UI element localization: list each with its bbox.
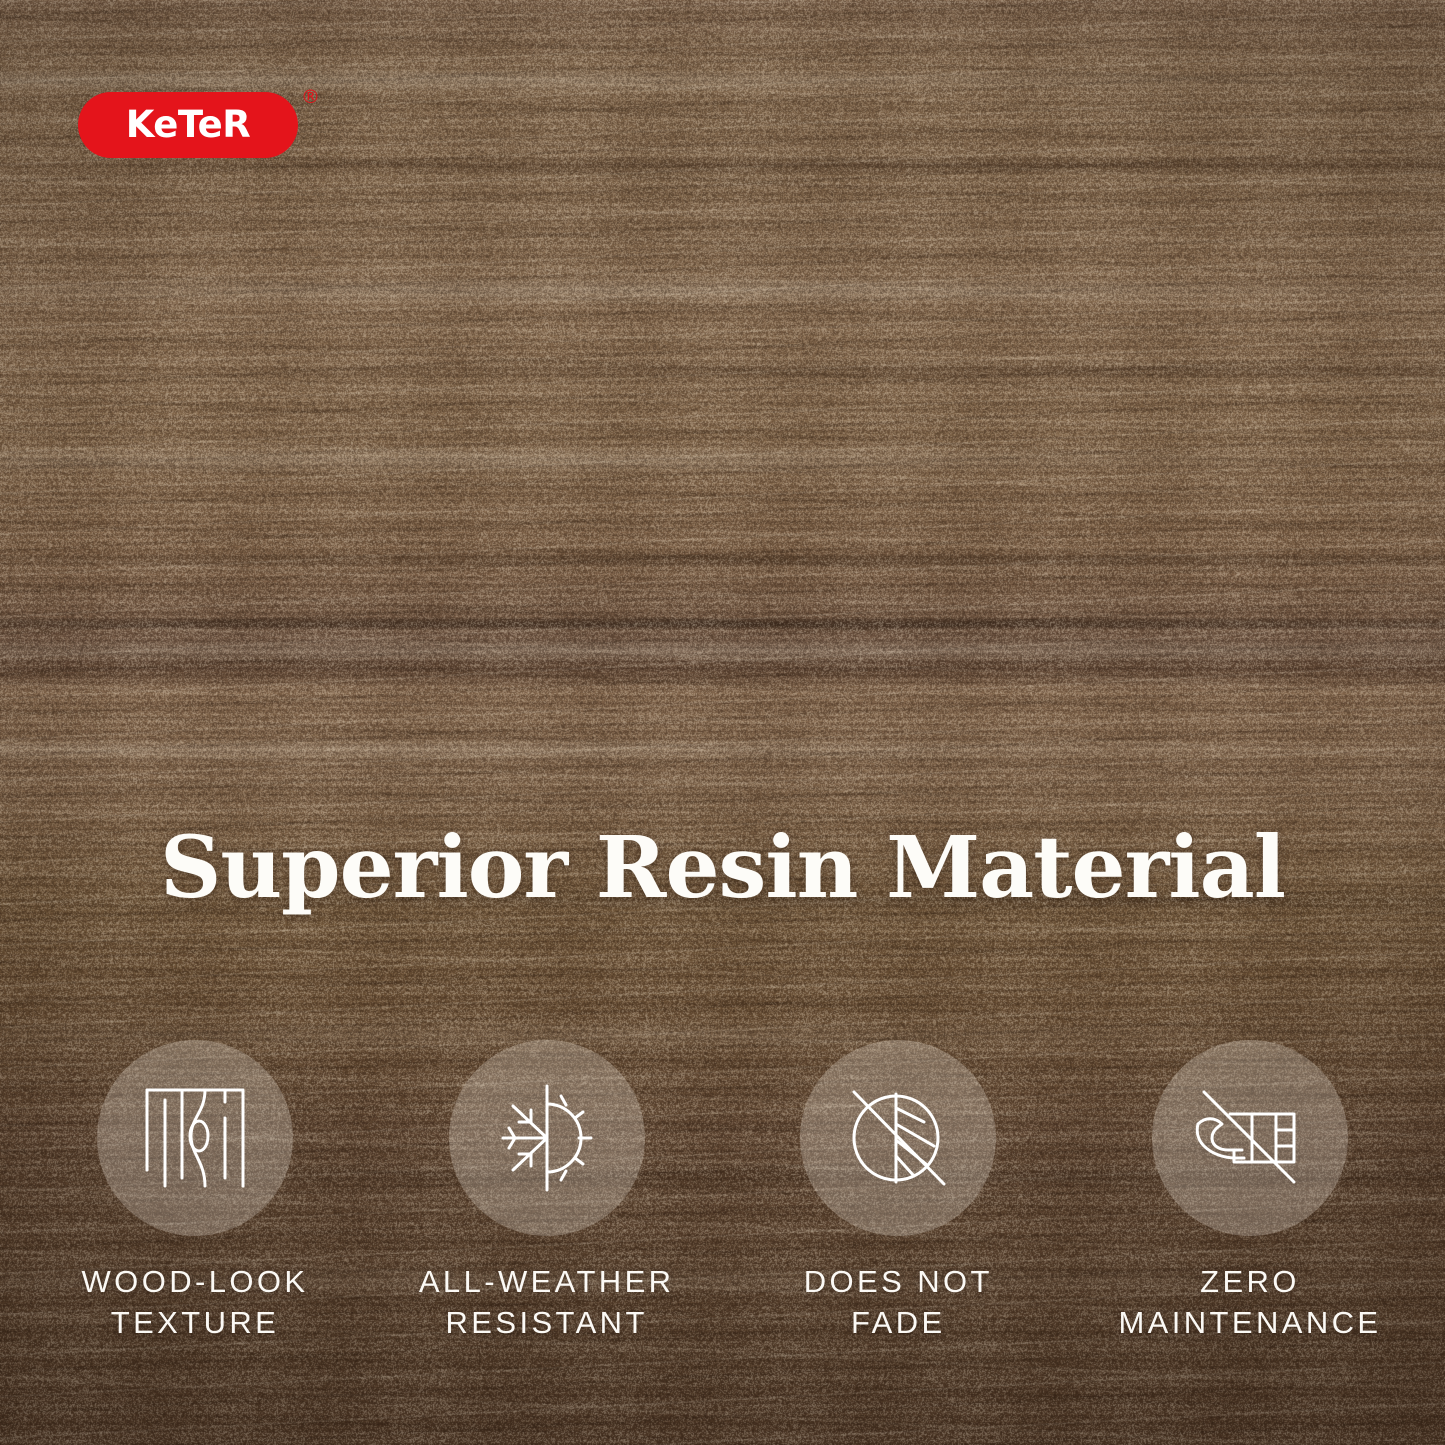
promo-banner: KeTeR ® Superior Resin Material	[0, 0, 1445, 1445]
keter-logo[interactable]: KeTeR ®	[78, 92, 298, 158]
registered-trademark-icon: ®	[301, 88, 320, 107]
page-title: Superior Resin Material	[0, 826, 1445, 911]
feature-label: ALL-WEATHER RESISTANT	[419, 1262, 675, 1344]
feature-label: WOOD-LOOK TEXTURE	[82, 1262, 309, 1344]
logo-wordmark: KeTeR	[126, 106, 251, 145]
snowflake-sun-icon	[487, 1078, 607, 1198]
feature-label: ZERO MAINTENANCE	[1118, 1262, 1381, 1344]
feature-badge	[800, 1040, 996, 1236]
feature-label: DOES NOT FADE	[804, 1262, 993, 1344]
feature-wood-look-texture: WOOD-LOOK TEXTURE	[30, 1040, 360, 1344]
logo-pill: KeTeR	[78, 92, 298, 158]
no-paintbrush-icon	[1190, 1078, 1310, 1198]
feature-all-weather-resistant: ALL-WEATHER RESISTANT	[382, 1040, 712, 1344]
feature-badge	[449, 1040, 645, 1236]
feature-badge	[97, 1040, 293, 1236]
feature-list: WOOD-LOOK TEXTURE	[30, 1040, 1415, 1344]
leaf-no-fade-icon	[838, 1078, 958, 1198]
feature-does-not-fade: DOES NOT FADE	[733, 1040, 1063, 1344]
feature-badge	[1152, 1040, 1348, 1236]
feature-zero-maintenance: ZERO MAINTENANCE	[1085, 1040, 1415, 1344]
wood-grain-icon	[135, 1078, 255, 1198]
